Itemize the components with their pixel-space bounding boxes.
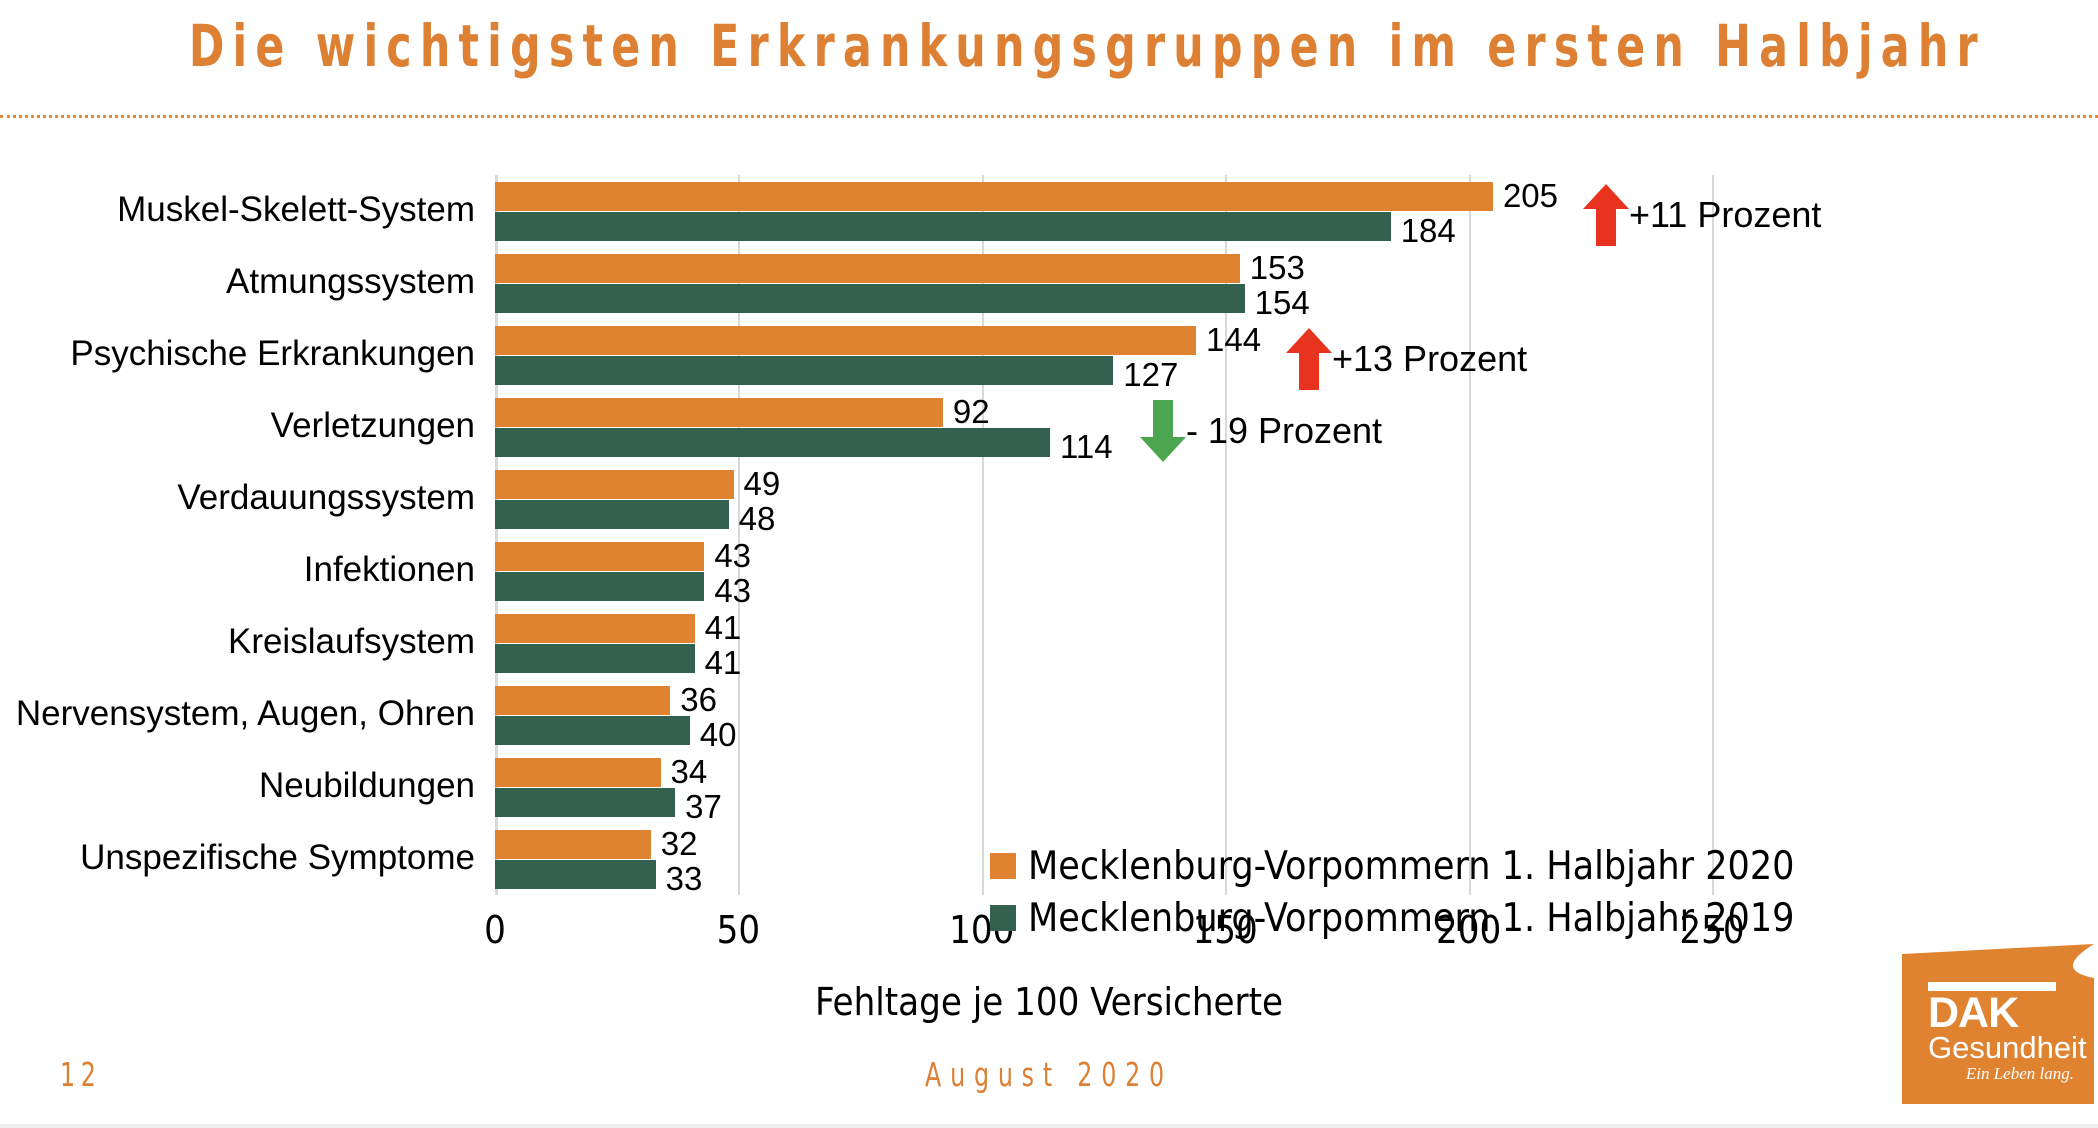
bar-2020	[495, 182, 1493, 211]
bar-2020	[495, 614, 695, 643]
arrow-up-icon	[1286, 328, 1332, 390]
bar-value-label-2019: 154	[1255, 286, 1310, 319]
logo-subtitle-text: Gesundheit	[1928, 1032, 2074, 1063]
trend-annotation-label: +13 Prozent	[1332, 341, 1527, 377]
bar-2019	[495, 716, 690, 745]
arrow-down-icon	[1140, 400, 1186, 462]
logo-brand-text: DAK	[1928, 993, 2074, 1034]
bar-group: 144127Psychische Erkrankungen	[495, 326, 1712, 385]
bar-2019	[495, 860, 656, 889]
bar-2019	[495, 356, 1113, 385]
bar-group: 4948Verdauungssystem	[495, 470, 1712, 529]
bar-value-label-2020: 153	[1250, 251, 1305, 284]
bar-value-label-2019: 43	[714, 574, 751, 607]
bar-group: 153154Atmungssystem	[495, 254, 1712, 313]
legend-item: Mecklenburg-Vorpommern 1. Halbjahr 2020	[990, 840, 1750, 892]
category-label: Psychische Erkrankungen	[0, 336, 475, 371]
bar-value-label-2020: 49	[744, 467, 781, 500]
category-label: Muskel-Skelett-System	[0, 192, 475, 227]
bar-group: 4343Infektionen	[495, 542, 1712, 601]
bar-2020	[495, 542, 704, 571]
bar-chart: 205184Muskel-Skelett-System+11 Prozent15…	[0, 130, 2098, 950]
bar-value-label-2020: 92	[953, 395, 990, 428]
bar-2020	[495, 830, 651, 859]
category-label: Unspezifische Symptome	[0, 840, 475, 875]
category-label: Infektionen	[0, 552, 475, 587]
bar-value-label-2019: 37	[685, 790, 722, 823]
legend-item: Mecklenburg-Vorpommern 1. Halbjahr 2019	[990, 892, 1750, 944]
x-axis-title: Fehltage je 100 Versicherte	[0, 980, 2098, 1024]
bar-2020	[495, 758, 661, 787]
category-label: Atmungssystem	[0, 264, 475, 299]
bar-value-label-2020: 36	[680, 683, 717, 716]
bar-group: 92114Verletzungen	[495, 398, 1712, 457]
bar-2020	[495, 398, 943, 427]
logo-content: DAK Gesundheit Ein Leben lang.	[1928, 982, 2074, 1084]
bar-value-label-2020: 41	[705, 611, 742, 644]
category-label: Nervensystem, Augen, Ohren	[0, 696, 475, 731]
bar-value-label-2019: 33	[666, 862, 703, 895]
plot-area: 205184Muskel-Skelett-System+11 Prozent15…	[495, 175, 1712, 895]
bar-2019	[495, 644, 695, 673]
trend-annotation: - 19 Prozent	[1140, 400, 1382, 462]
legend-swatch-icon	[990, 853, 1016, 879]
bar-group: 4141Kreislaufsystem	[495, 614, 1712, 673]
legend-swatch-icon	[990, 905, 1016, 931]
gridline	[1712, 175, 1714, 895]
bar-value-label-2020: 205	[1503, 179, 1558, 212]
category-label: Verletzungen	[0, 408, 475, 443]
legend-label: Mecklenburg-Vorpommern 1. Halbjahr 2020	[1028, 844, 1794, 889]
bar-2020	[495, 470, 734, 499]
slide-canvas: Die wichtigsten Erkrankungsgruppen im er…	[0, 0, 2098, 1128]
bar-value-label-2019: 40	[700, 718, 737, 751]
bar-value-label-2020: 43	[714, 539, 751, 572]
bar-value-label-2020: 144	[1206, 323, 1261, 356]
trend-annotation: +13 Prozent	[1286, 328, 1527, 390]
category-label: Kreislaufsystem	[0, 624, 475, 659]
dak-logo: DAK Gesundheit Ein Leben lang.	[1902, 944, 2094, 1104]
bar-group: 205184Muskel-Skelett-System	[495, 182, 1712, 241]
bar-2019	[495, 788, 675, 817]
bar-2019	[495, 212, 1391, 241]
footer-date: August 2020	[210, 1055, 1888, 1094]
page-title: Die wichtigsten Erkrankungsgruppen im er…	[189, 12, 1909, 80]
bar-value-label-2019: 41	[705, 646, 742, 679]
x-axis-tick-label: 50	[717, 908, 761, 952]
bar-2019	[495, 284, 1245, 313]
bar-group: 3640Nervensystem, Augen, Ohren	[495, 686, 1712, 745]
bar-2019	[495, 428, 1050, 457]
chart-legend: Mecklenburg-Vorpommern 1. Halbjahr 2020M…	[990, 840, 1750, 944]
trend-annotation-label: - 19 Prozent	[1186, 413, 1382, 449]
bar-2020	[495, 326, 1196, 355]
bar-group: 3437Neubildungen	[495, 758, 1712, 817]
bar-2019	[495, 572, 704, 601]
page-number: 12	[60, 1055, 101, 1094]
title-divider	[0, 115, 2098, 118]
bar-value-label-2019: 48	[739, 502, 776, 535]
x-axis-tick-label: 0	[484, 908, 506, 952]
bar-value-label-2019: 114	[1060, 430, 1113, 463]
category-label: Verdauungssystem	[0, 480, 475, 515]
arrow-up-icon	[1583, 184, 1629, 246]
bar-value-label-2020: 32	[661, 827, 698, 860]
bar-2020	[495, 254, 1240, 283]
bar-2019	[495, 500, 729, 529]
trend-annotation: +11 Prozent	[1583, 184, 1821, 246]
logo-claim-text: Ein Leben lang.	[1928, 1064, 2074, 1084]
legend-label: Mecklenburg-Vorpommern 1. Halbjahr 2019	[1028, 896, 1794, 941]
category-label: Neubildungen	[0, 768, 475, 803]
bar-value-label-2019: 127	[1123, 358, 1178, 391]
bar-2020	[495, 686, 670, 715]
footer-divider	[0, 1124, 2098, 1128]
trend-annotation-label: +11 Prozent	[1629, 197, 1821, 233]
bar-value-label-2020: 34	[671, 755, 708, 788]
bar-value-label-2019: 184	[1401, 214, 1456, 247]
